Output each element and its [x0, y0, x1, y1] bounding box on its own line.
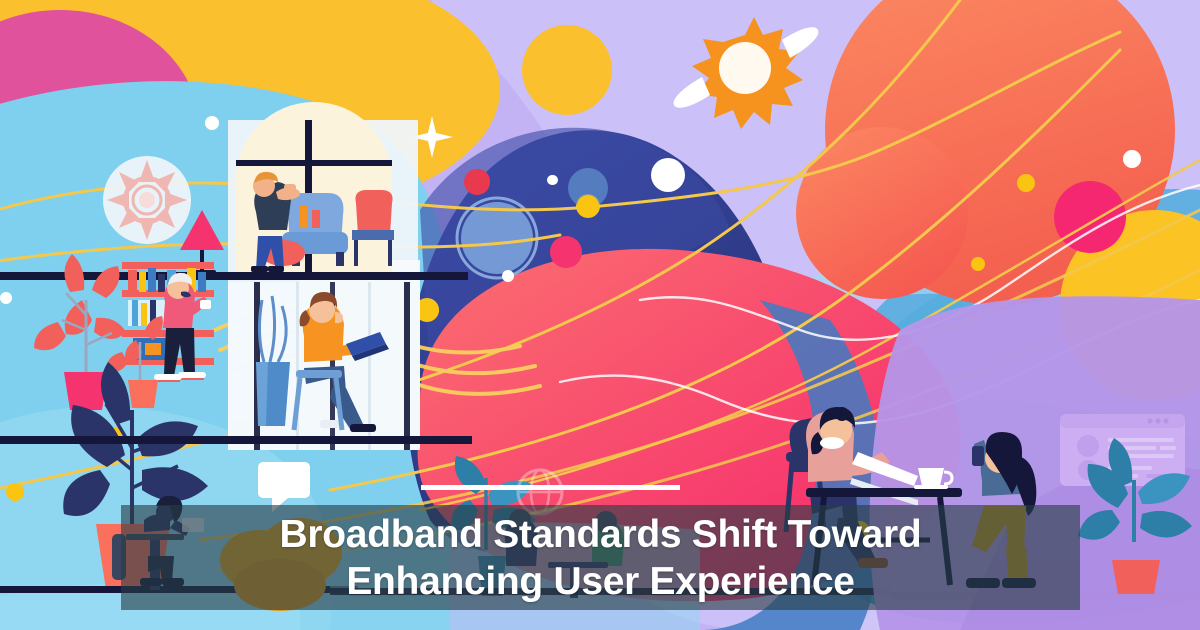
- title-divider-rule: [421, 485, 680, 490]
- page-title: Broadband Standards Shift Toward Enhanci…: [280, 511, 922, 605]
- title-overlay-band: Broadband Standards Shift Toward Enhanci…: [121, 505, 1080, 610]
- hero-banner: Broadband Standards Shift Toward Enhanci…: [0, 0, 1200, 630]
